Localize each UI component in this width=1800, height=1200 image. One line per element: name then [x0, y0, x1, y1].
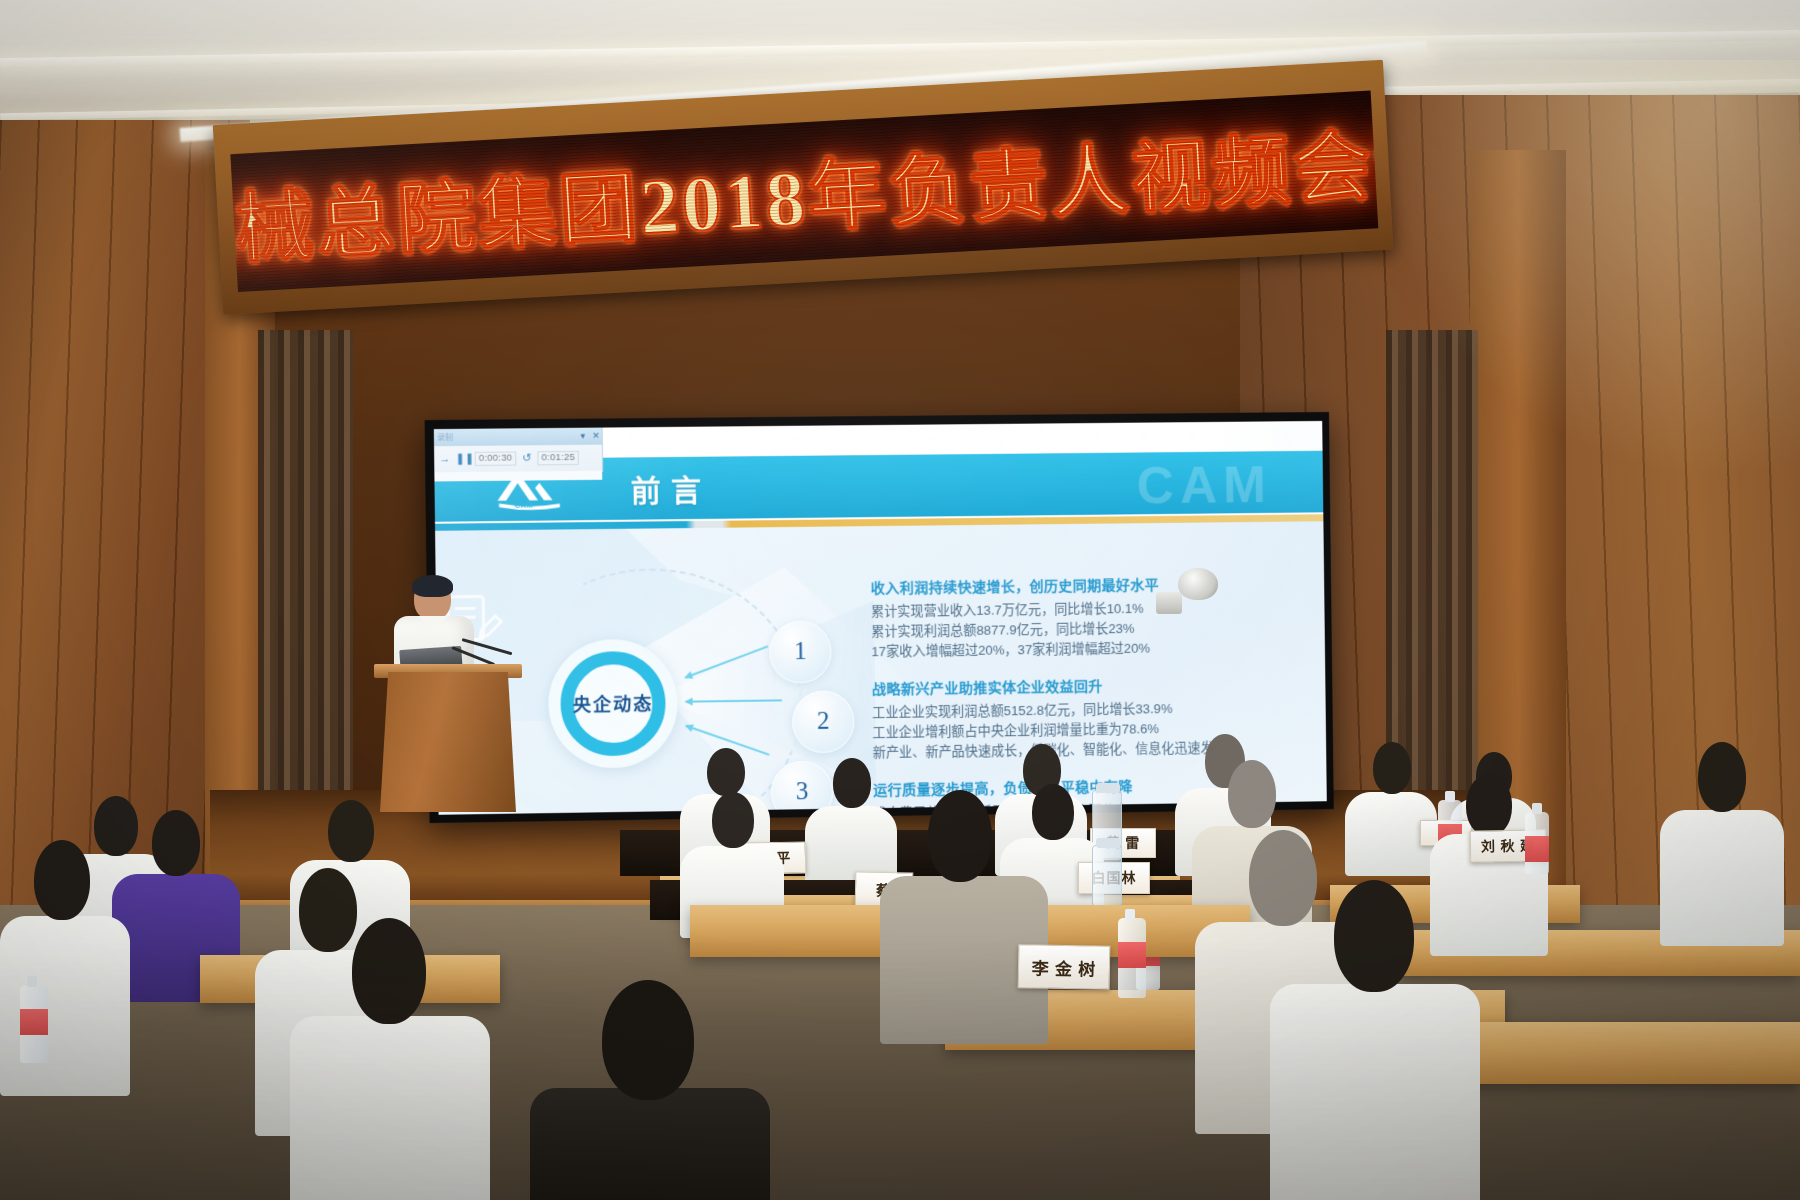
attendee-head [1334, 880, 1414, 992]
water-bottle [1525, 812, 1549, 874]
attendee-torso [290, 1016, 490, 1200]
attendee-head [928, 790, 992, 882]
attendee-torso [1270, 984, 1480, 1200]
ceiling-video-camera-icon [1178, 568, 1218, 600]
water-bottle [20, 985, 48, 1063]
attendee-head [1228, 760, 1276, 828]
attendee-head [328, 800, 374, 862]
slide-block-2-heading: 战略新兴产业助推实体企业效益回升 [872, 674, 1309, 700]
slide-hub-label: 央企动态 [548, 639, 679, 769]
ceiling-light-strip-1 [0, 30, 1800, 68]
slide-block-1-line-3: 17家收入增幅超过20%，37家利润增幅超过20% [871, 637, 1308, 663]
attendee-torso [1660, 810, 1784, 946]
nameplate: 李 金 树 [1018, 944, 1111, 990]
attendee [1660, 742, 1784, 942]
total-timer: 0:01:25 [537, 451, 579, 465]
slide-block-1: 收入利润持续快速增长，创历史同期最好水平 累计实现营业收入13.7万亿元，同比增… [871, 573, 1309, 662]
camera-mount [1156, 592, 1182, 614]
attendee-head [602, 980, 694, 1100]
pause-icon[interactable]: ❚❚ [455, 453, 472, 464]
ppt-rehearsal-titlebar: 录制 ▾ ✕ [434, 428, 602, 447]
slide-timer: 0:00:30 [475, 452, 517, 466]
water-bottle [1118, 918, 1146, 998]
close-icon[interactable]: ✕ [590, 432, 602, 441]
bottle-label [1525, 836, 1549, 862]
toolbar-footer [434, 471, 602, 482]
attendee [530, 980, 770, 1200]
attendee-head [1373, 742, 1411, 794]
attendee [290, 918, 490, 1200]
attendee-head [833, 758, 871, 808]
water-cup [1092, 845, 1122, 907]
attendee-female [880, 790, 1048, 1040]
podium [380, 672, 516, 812]
attendee-head [152, 810, 200, 876]
attendee-head [1466, 774, 1512, 836]
screenshot-root: 机械总院集团2018年负责人视频会议 CAM 前言 CAM [0, 0, 1800, 1200]
svg-text:CAM: CAM [515, 501, 534, 510]
repeat-icon[interactable]: ↺ [518, 453, 535, 464]
chevron-down-icon[interactable]: ▾ [578, 432, 587, 441]
slide-hub-ring: 央企动态 [548, 639, 679, 769]
arrow-right-icon[interactable]: → [436, 454, 453, 465]
slide-title: 前言 [630, 466, 711, 511]
ppt-rehearsal-controls: → ❚❚ 0:00:30 ↺ 0:01:25 [434, 445, 602, 473]
attendee-head [1698, 742, 1746, 812]
ppt-rehearsal-title: 录制 [437, 433, 453, 441]
bottle-label [20, 1009, 48, 1035]
attendee-head [352, 918, 426, 1024]
slide-block-1-heading: 收入利润持续快速增长，创历史同期最好水平 [871, 573, 1308, 598]
slide-watermark: CAM [1136, 455, 1272, 516]
attendee [1270, 880, 1480, 1200]
presenter-hair [412, 575, 453, 597]
attendee-torso [530, 1088, 770, 1200]
titlebar-spacer [456, 436, 575, 437]
attendee-head [707, 748, 745, 796]
ppt-rehearsal-toolbar[interactable]: 录制 ▾ ✕ → ❚❚ 0:00:30 ↺ 0:01:25 [434, 428, 603, 474]
attendee-head [712, 792, 754, 848]
attendee-head [34, 840, 90, 920]
bottle-label [1118, 942, 1146, 968]
